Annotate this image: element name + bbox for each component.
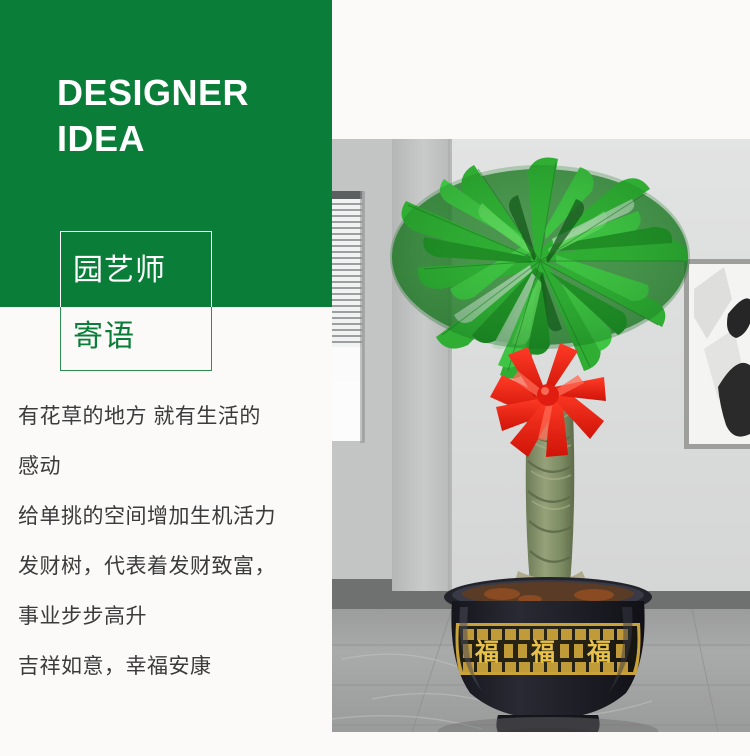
- svg-text:福: 福: [530, 639, 555, 666]
- product-detail-page: 福 福 福 DESIGNER IDEA 园艺师 寄语 有花草: [0, 0, 750, 756]
- poem-line: 事业步步高升: [18, 592, 324, 642]
- poem-line: 感动: [18, 442, 324, 492]
- product-photo: 福 福 福: [332, 139, 750, 732]
- designer-note-box: 园艺师 寄语: [60, 231, 212, 371]
- designer-note-line-1: 园艺师: [73, 256, 166, 286]
- designer-note-line-2: 寄语: [73, 322, 135, 352]
- photo-illustration: 福 福 福: [332, 139, 750, 732]
- headline-line-1: DESIGNER: [57, 72, 249, 113]
- poem-line: 给单挑的空间增加生机活力: [18, 492, 324, 542]
- headline-line-2: IDEA: [57, 116, 317, 162]
- poem-line: 吉祥如意，幸福安康: [18, 642, 324, 692]
- page-title: DESIGNER IDEA: [57, 70, 317, 162]
- svg-text:福: 福: [586, 639, 611, 666]
- poem-line: 有花草的地方 就有生活的: [18, 392, 324, 442]
- poem-line: 发财树，代表着发财致富，: [18, 542, 324, 592]
- svg-text:福: 福: [474, 639, 499, 666]
- gardener-message-text: 有花草的地方 就有生活的 感动 给单挑的空间增加生机活力 发财树，代表着发财致富…: [18, 392, 324, 692]
